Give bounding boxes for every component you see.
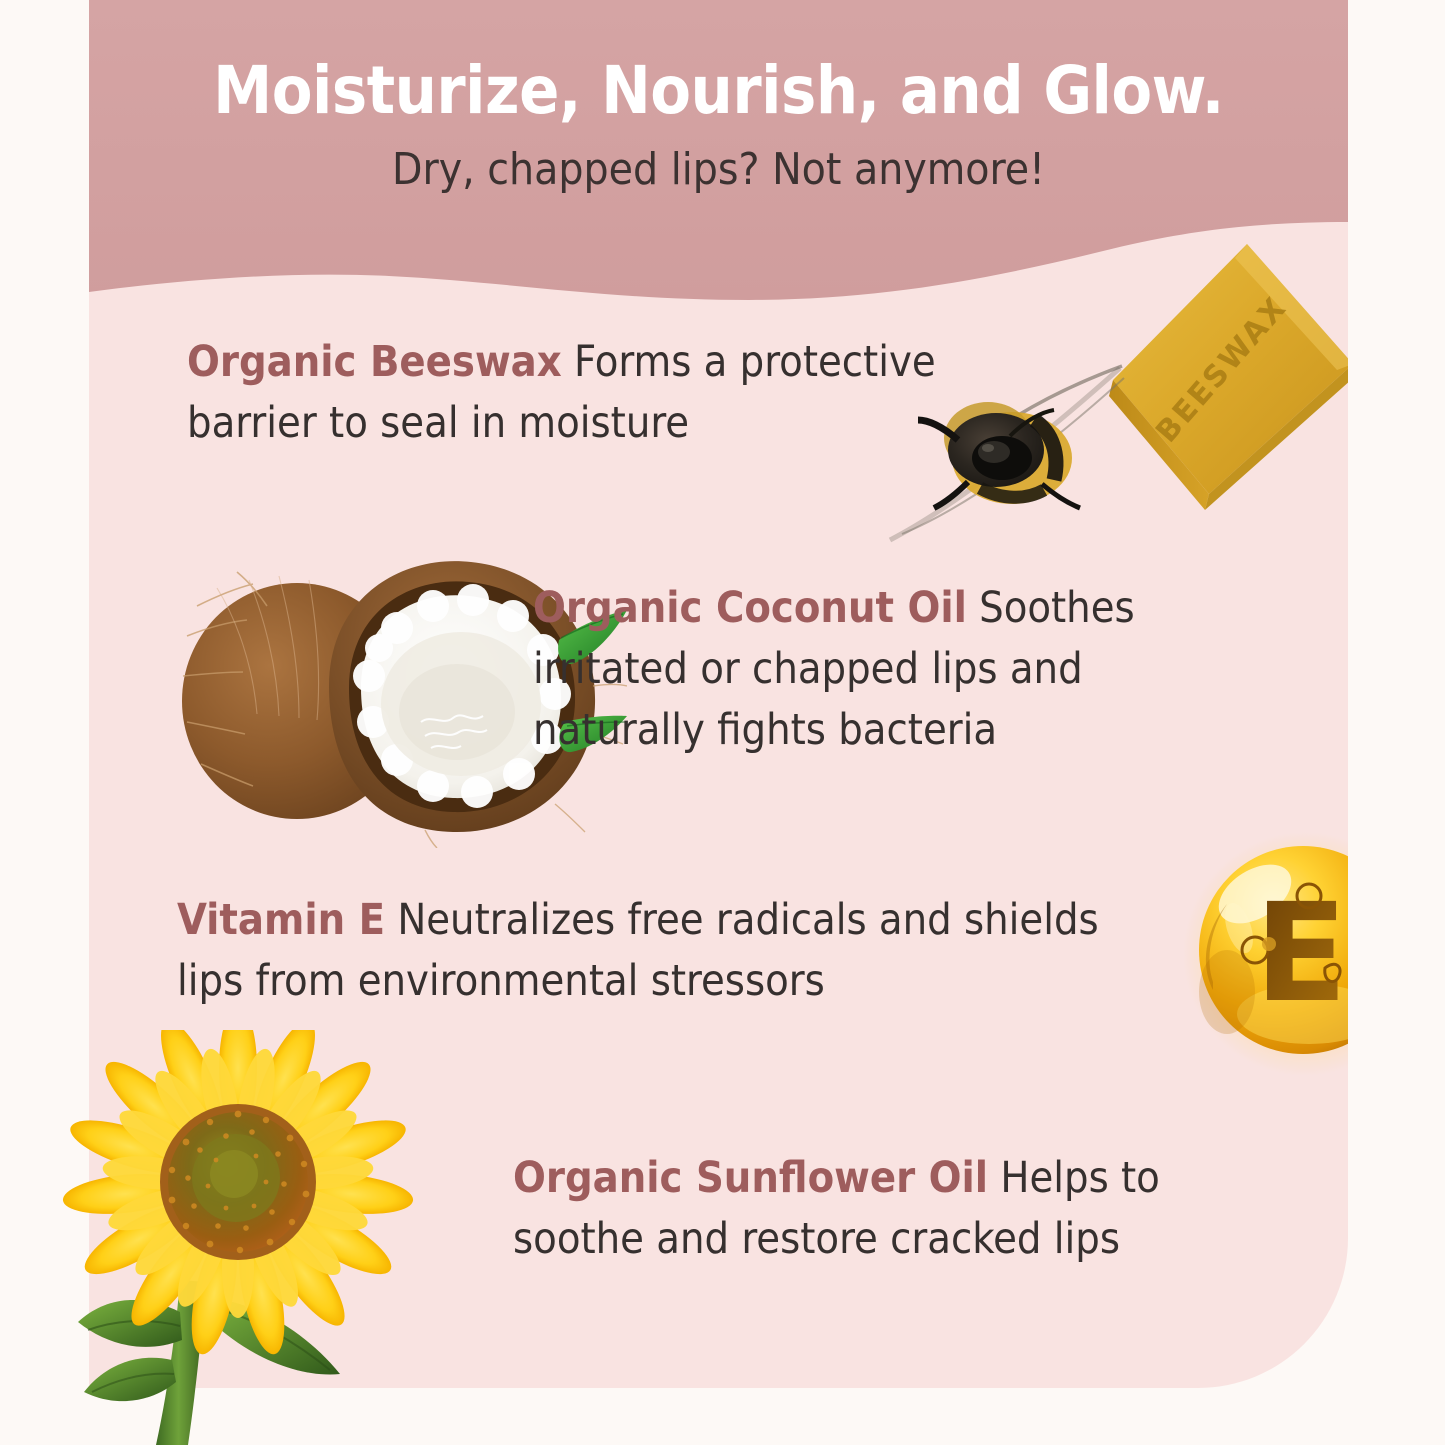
ingredient-name-coconut: Organic Coconut Oil xyxy=(533,583,967,633)
sunflower-icon xyxy=(30,1030,490,1445)
page-title: Moisturize, Nourish, and Glow. xyxy=(89,56,1348,125)
header-text-group: Moisturize, Nourish, and Glow. Dry, chap… xyxy=(89,0,1348,193)
ingredient-name-vitamine: Vitamin E xyxy=(177,895,385,945)
ingredient-text-sunflower: Organic Sunflower Oil Helps to soothe an… xyxy=(513,1148,1248,1270)
ingredient-name-beeswax: Organic Beeswax xyxy=(187,337,562,387)
vitamin-e-capsule-icon: E xyxy=(1183,832,1348,1076)
ingredient-text-coconut: Organic Coconut Oil Soothes irritated or… xyxy=(533,578,1233,761)
ingredient-text-vitamine: Vitamin E Neutralizes free radicals and … xyxy=(177,890,1167,1012)
page-subtitle: Dry, chapped lips? Not anymore! xyxy=(89,147,1348,193)
ingredient-text-beeswax: Organic Beeswax Forms a protective barri… xyxy=(187,332,1032,454)
ingredient-name-sunflower: Organic Sunflower Oil xyxy=(513,1153,988,1203)
sunflower-leaf-lower xyxy=(84,1358,176,1401)
beeswax-bar-icon: BEESWAX xyxy=(1101,238,1348,516)
